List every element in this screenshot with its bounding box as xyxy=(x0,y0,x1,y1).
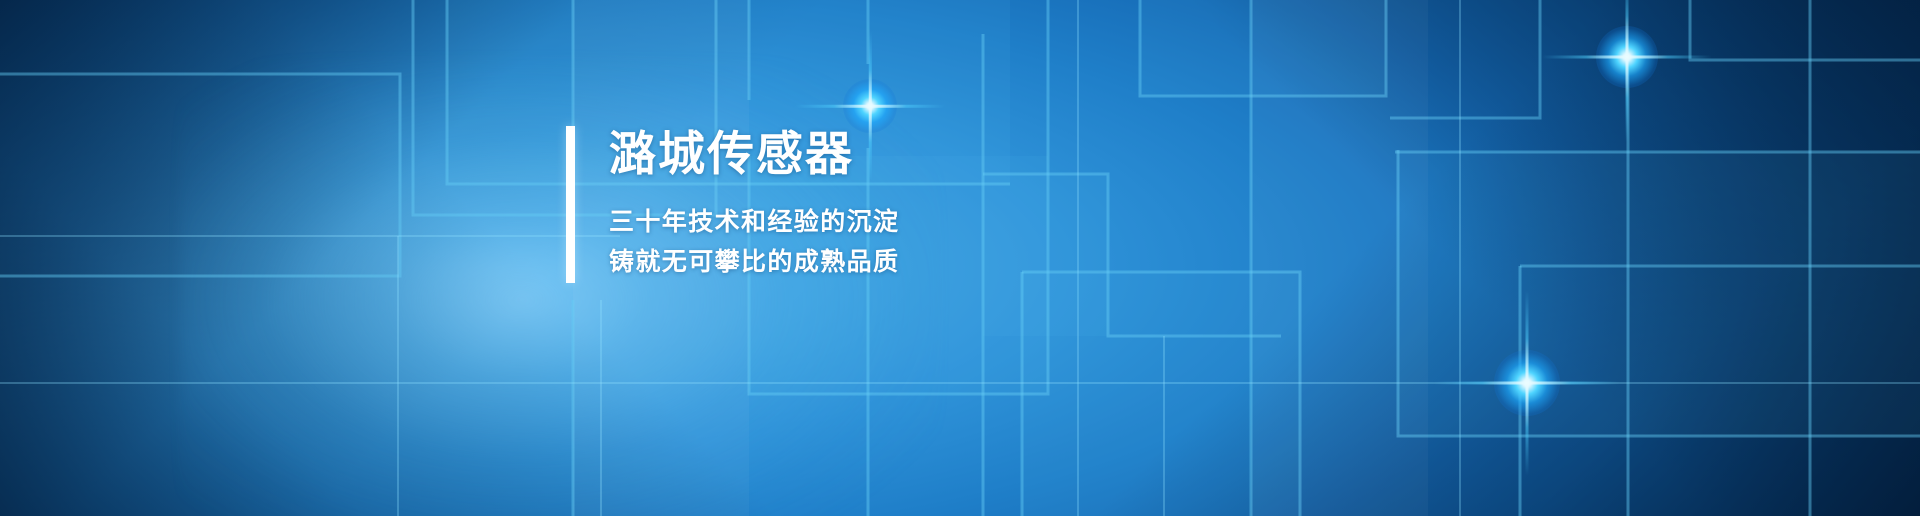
banner-subtitle-line-2: 铸就无可攀比的成熟品质 xyxy=(609,242,899,283)
accent-bar xyxy=(566,126,575,283)
banner-subtitle-line-1: 三十年技术和经验的沉淀 xyxy=(609,202,899,243)
banner-subtitle: 三十年技术和经验的沉淀 铸就无可攀比的成熟品质 xyxy=(609,202,899,283)
banner-text-column: 潞城传感器 三十年技术和经验的沉淀 铸就无可攀比的成熟品质 xyxy=(609,126,899,283)
banner-title: 潞城传感器 xyxy=(609,128,899,181)
geometric-decoration xyxy=(0,0,1920,516)
banner-content: 潞城传感器 三十年技术和经验的沉淀 铸就无可攀比的成熟品质 xyxy=(566,126,899,283)
hero-banner: 潞城传感器 三十年技术和经验的沉淀 铸就无可攀比的成熟品质 xyxy=(0,0,1920,516)
